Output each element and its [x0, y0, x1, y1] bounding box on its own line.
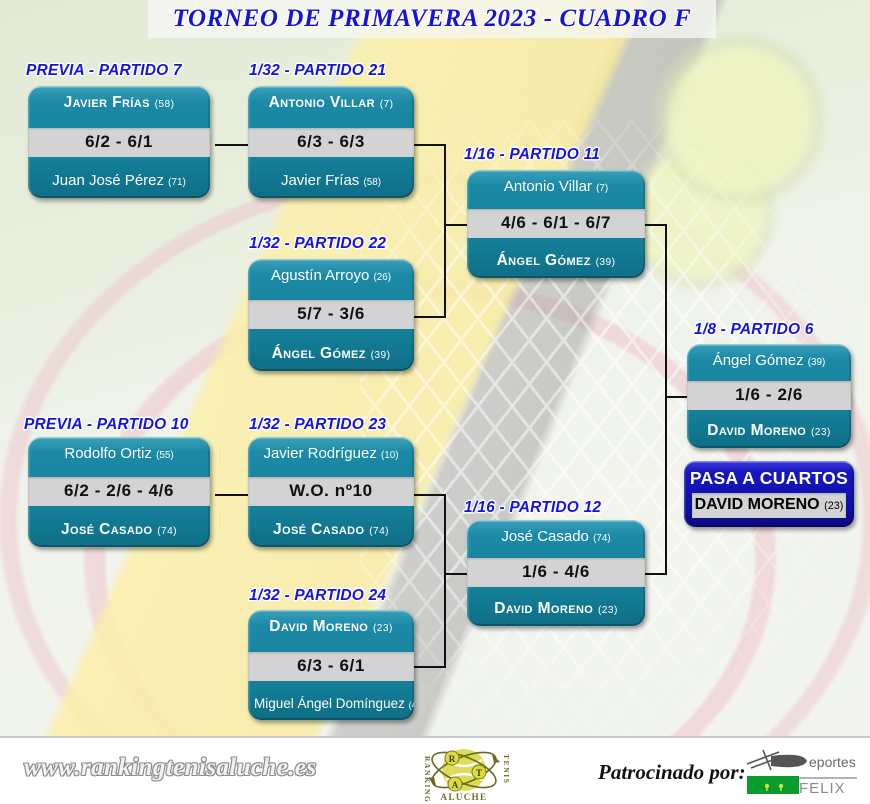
match-player-top: Antonio Villar (7): [467, 177, 645, 197]
match-box-previa-partido-7[interactable]: Javier Frías (58) 6/2 - 6/1 Juan José Pé…: [28, 86, 210, 198]
svg-text:ALUCHE: ALUCHE: [441, 792, 488, 802]
ranking-tenis-aluche-logo: R T A RANKING TENIS ALUCHE: [408, 742, 520, 804]
match-box-partido-6[interactable]: Ángel Gómez (39) 1/6 - 2/6 David Moreno …: [687, 344, 851, 448]
match-score: 6/2 - 6/1: [28, 128, 210, 157]
connector-into-11: [444, 224, 468, 226]
svg-text:RANKING: RANKING: [423, 756, 432, 803]
match-player-bottom: Ángel Gómez (39): [467, 251, 645, 271]
connector-into-12: [444, 573, 468, 575]
qualifier-heading: PASA A CUARTOS: [684, 467, 854, 493]
svg-text:T: T: [476, 768, 482, 778]
page-title: TORNEO DE PRIMAVERA 2023 - CUADRO F: [173, 5, 692, 33]
round-label-partido-22: 1/32 - PARTIDO 22: [249, 235, 386, 253]
svg-text:A: A: [452, 780, 459, 790]
connector-previa7-to-21: [215, 144, 252, 146]
svg-text:R: R: [449, 754, 456, 764]
connector-23-24-join: [444, 494, 446, 668]
match-box-partido-12[interactable]: José Casado (74) 1/6 - 4/6 David Moreno …: [467, 520, 645, 626]
round-label-previa-10: PREVIA - PARTIDO 10: [24, 416, 189, 434]
svg-text:TENIS: TENIS: [502, 754, 511, 785]
match-box-previa-partido-10[interactable]: Rodolfo Ortiz (55) 6/2 - 2/6 - 4/6 José …: [28, 437, 210, 547]
svg-text:FELIX: FELIX: [799, 780, 846, 796]
match-score: 6/2 - 2/6 - 4/6: [28, 477, 210, 506]
qualifier-box[interactable]: PASA A CUARTOS DAVID MORENO (23): [684, 461, 854, 527]
qualifier-player-name: DAVID MORENO (23): [692, 493, 846, 518]
match-player-bottom: Ángel Gómez (39): [248, 344, 414, 364]
round-label-partido-11: 1/16 - PARTIDO 11: [464, 146, 600, 164]
sponsor-label: Patrocinado por:: [598, 760, 746, 785]
match-player-top: Agustín Arroyo (26): [248, 266, 414, 286]
match-player-bottom: José Casado (74): [248, 520, 414, 540]
connector-12-out: [645, 573, 667, 575]
svg-text:eportes: eportes: [809, 754, 856, 770]
site-url[interactable]: www.rankingtenisaluche.es: [24, 754, 316, 782]
connector-into-6: [665, 396, 687, 398]
round-label-partido-24: 1/32 - PARTIDO 24: [249, 587, 386, 605]
match-box-partido-24[interactable]: David Moreno (23) 6/3 - 6/1 Miguel Ángel…: [248, 610, 414, 720]
bracket-page: TORNEO DE PRIMAVERA 2023 - CUADRO F PREV…: [0, 0, 870, 804]
round-label-partido-12: 1/16 - PARTIDO 12: [464, 499, 601, 517]
match-player-bottom: Javier Frías (58): [248, 171, 414, 191]
connector-21-out: [412, 144, 446, 146]
connector-previa10-to-23: [215, 494, 252, 496]
match-player-top: David Moreno (23): [248, 617, 414, 637]
match-score: 4/6 - 6/1 - 6/7: [467, 209, 645, 238]
match-player-bottom: Miguel Ángel Domínguez (42): [248, 695, 414, 713]
match-player-bottom: Juan José Pérez (71): [28, 171, 210, 191]
match-box-partido-21[interactable]: Antonio Villar (7) 6/3 - 6/3 Javier Fría…: [248, 86, 414, 198]
round-label-partido-23: 1/32 - PARTIDO 23: [249, 416, 386, 434]
connector-21-22-join: [444, 144, 446, 318]
match-box-partido-23[interactable]: Javier Rodríguez (10) W.O. nº10 José Cas…: [248, 437, 414, 547]
connector-22-out: [412, 316, 446, 318]
match-player-top: Javier Frías (58): [28, 93, 210, 113]
match-score: 5/7 - 3/6: [248, 300, 414, 329]
match-player-bottom: David Moreno (23): [687, 421, 851, 441]
match-player-top: Ángel Gómez (39): [687, 351, 851, 371]
match-player-bottom: David Moreno (23): [467, 599, 645, 619]
round-label-partido-6: 1/8 - PARTIDO 6: [694, 321, 814, 339]
connector-24-out: [412, 666, 446, 668]
footer: www.rankingtenisaluche.es R T A RANKING …: [0, 736, 870, 804]
page-title-bar: TORNEO DE PRIMAVERA 2023 - CUADRO F: [148, 0, 716, 38]
connector-23-out: [412, 494, 446, 496]
match-player-bottom: José Casado (74): [28, 520, 210, 540]
round-label-previa-7: PREVIA - PARTIDO 7: [26, 62, 182, 80]
connector-11-out: [645, 224, 667, 226]
match-score: 6/3 - 6/3: [248, 128, 414, 157]
deportes-felix-logo: eportes FELIX: [745, 748, 861, 796]
match-player-top: Rodolfo Ortiz (55): [28, 444, 210, 464]
match-score: 6/3 - 6/1: [248, 652, 414, 681]
match-score: 1/6 - 4/6: [467, 558, 645, 587]
connector-11-12-join: [665, 224, 667, 575]
match-box-partido-22[interactable]: Agustín Arroyo (26) 5/7 - 3/6 Ángel Góme…: [248, 259, 414, 371]
match-player-top: Javier Rodríguez (10): [248, 444, 414, 464]
match-box-partido-11[interactable]: Antonio Villar (7) 4/6 - 6/1 - 6/7 Ángel…: [467, 170, 645, 278]
round-label-partido-21: 1/32 - PARTIDO 21: [249, 62, 386, 80]
match-player-top: José Casado (74): [467, 527, 645, 547]
match-score: 1/6 - 2/6: [687, 381, 851, 410]
match-player-top: Antonio Villar (7): [248, 93, 414, 113]
match-score: W.O. nº10: [248, 477, 414, 506]
